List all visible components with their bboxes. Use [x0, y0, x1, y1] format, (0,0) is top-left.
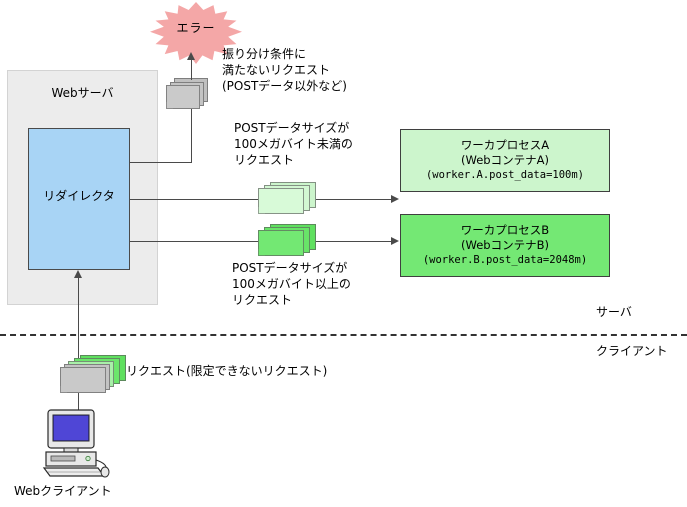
client-request-doc-icon [60, 355, 128, 393]
large-post-request-doc-icon [258, 224, 318, 258]
error-path-horizontal [130, 162, 192, 163]
worker-process-a-box: ワーカプロセスA (WebコンテナA) (worker.A.post_data=… [400, 129, 610, 192]
redirector-label: リダイレクタ [28, 189, 130, 203]
annotation-unmatched-request: 振り分け条件に 満たないリクエスト (POSTデータ以外など) [222, 46, 347, 94]
error-label: エラー [150, 22, 242, 35]
worker-b-config: (worker.B.post_data=2048m) [423, 253, 587, 268]
client-uplink-arrowhead [74, 270, 82, 278]
web-client-label: Webクライアント [14, 483, 112, 499]
web-server-label: Webサーバ [7, 86, 158, 100]
unmatched-request-doc-icon [166, 78, 210, 110]
web-client-computer-icon [40, 408, 112, 478]
client-uplink-line-upper [78, 278, 79, 358]
annotation-large-post-request: POSTデータサイズが 100メガバイト以上の リクエスト [232, 260, 351, 308]
path-b-arrowhead [391, 237, 399, 245]
zone-label-server: サーバ [596, 305, 632, 319]
diagram-canvas: Webサーバ リダイレクタ エラー 振り分け条件に 満たないリクエスト (POS… [0, 0, 687, 507]
error-path-vertical-upper [191, 58, 192, 80]
computer-svg [40, 408, 112, 478]
worker-a-name: ワーカプロセスA [461, 138, 549, 153]
error-arrowhead [187, 52, 195, 60]
path-a-arrowhead [391, 195, 399, 203]
server-client-divider [0, 334, 687, 336]
worker-b-name: ワーカプロセスB [461, 223, 549, 238]
worker-process-b-box: ワーカプロセスB (WebコンテナB) (worker.B.post_data=… [400, 214, 610, 277]
small-post-request-doc-icon [258, 182, 318, 216]
worker-b-container: (WebコンテナB) [461, 238, 549, 253]
annotation-small-post-request: POSTデータサイズが 100メガバイト未満の リクエスト [234, 120, 353, 168]
error-path-vertical-lower [191, 108, 192, 163]
worker-a-container: (WebコンテナA) [461, 153, 549, 168]
worker-a-config: (worker.A.post_data=100m) [426, 168, 584, 183]
annotation-client-request: リクエスト(限定できないリクエスト) [126, 363, 327, 379]
zone-label-client: クライアント [596, 344, 668, 358]
